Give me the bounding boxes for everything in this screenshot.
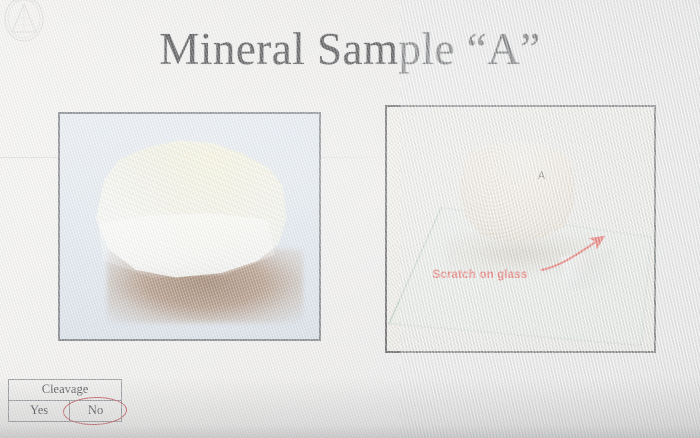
table-header-row: Cleavage [9, 380, 122, 401]
cleavage-table: Cleavage Yes No [8, 379, 122, 422]
scratch-on-glass-annotation: Scratch on glass [432, 269, 527, 281]
table-row: Yes No [9, 401, 122, 422]
cleavage-header: Cleavage [9, 380, 122, 401]
cleavage-option-yes[interactable]: Yes [9, 401, 70, 422]
scratch-arrow-icon [534, 229, 630, 283]
cleavage-option-no[interactable]: No [70, 401, 122, 422]
slide-title: Mineral Sample “A” [0, 22, 700, 76]
mineral-sample-photo [58, 112, 321, 341]
scratch-test-photo: A Scratch on glass [385, 105, 656, 353]
slide-screenshot: Mineral Sample “A” A [0, 0, 700, 438]
specimen-label-a: A [538, 170, 545, 182]
cleavage-option-no-label: No [88, 403, 103, 417]
